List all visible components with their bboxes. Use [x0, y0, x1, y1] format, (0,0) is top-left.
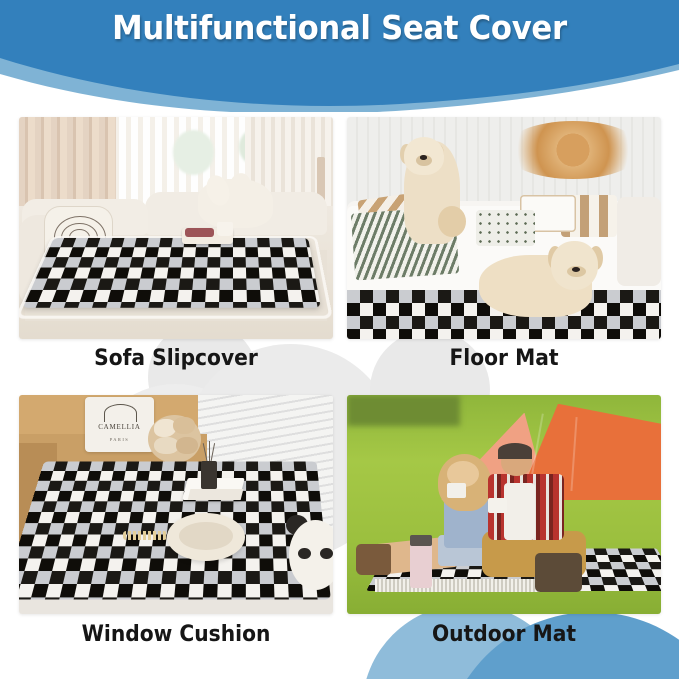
pillow-brand-text: CAMELLIA — [85, 423, 154, 431]
man-tshirt — [504, 483, 535, 540]
header-banner: Multifunctional Seat Cover — [0, 0, 679, 112]
product-infographic: Multifunctional Seat Cover — [0, 0, 679, 679]
man-hair — [498, 443, 533, 458]
seat-cover-trim — [19, 236, 332, 319]
woman-boot — [356, 544, 391, 575]
thermos-cap — [410, 535, 432, 546]
photo-sofa-slipcover — [19, 117, 333, 339]
pillow-arc-graphic — [104, 404, 137, 423]
tree-line — [347, 395, 460, 426]
dog-lying-nose — [572, 267, 580, 272]
sofa-arm-right — [617, 197, 661, 286]
botanical-pillow — [476, 210, 536, 246]
cup-on-tray — [217, 222, 233, 235]
berries-on-tray — [185, 228, 213, 237]
dog-sitting-nose — [420, 155, 428, 159]
photo-window-cushion: CAMELLIA PARIS — [19, 395, 333, 614]
bread-segment-4 — [176, 437, 198, 455]
product-tile-window-cushion[interactable]: CAMELLIA PARIS — [19, 395, 333, 614]
rattan-wall-decor — [504, 121, 642, 179]
caption-outdoor-mat: Outdoor Mat — [360, 622, 649, 647]
caption-window-cushion: Window Cushion — [32, 622, 321, 647]
pet-bed-inner — [179, 522, 232, 550]
product-tile-outdoor-mat[interactable] — [347, 395, 661, 614]
product-tile-sofa-slipcover[interactable] — [19, 117, 333, 339]
product-tile-floor-mat[interactable] — [347, 117, 661, 339]
reed-diffuser-bottle — [201, 461, 217, 489]
photo-outdoor-mat — [347, 395, 661, 614]
book-stack-bottom — [187, 489, 243, 500]
window-arch-left — [173, 130, 214, 174]
bead-chain — [123, 531, 167, 540]
pillow-city-text: PARIS — [85, 437, 154, 442]
man-mug — [488, 498, 507, 513]
caption-sofa-slipcover: Sofa Slipcover — [32, 346, 321, 371]
dog-sitting-paw — [438, 206, 466, 237]
caption-floor-mat: Floor Mat — [360, 346, 649, 371]
woman-mug — [447, 483, 466, 498]
page-title: Multifunctional Seat Cover — [24, 8, 655, 47]
photo-floor-mat — [347, 117, 661, 339]
man-boot — [535, 553, 582, 592]
thermos-flask — [410, 540, 432, 588]
bread-segment-2 — [173, 417, 195, 435]
